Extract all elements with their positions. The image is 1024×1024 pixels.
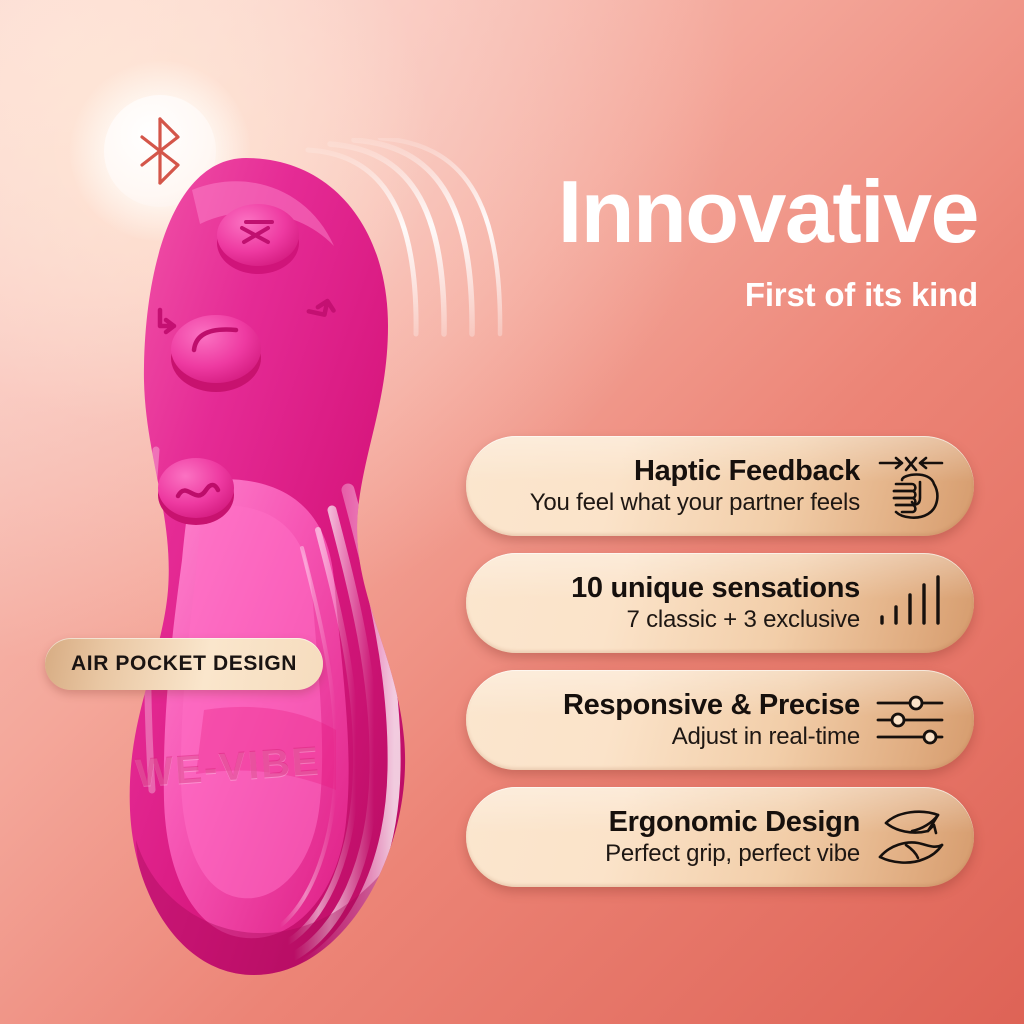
air-pocket-design-label: AIR POCKET DESIGN	[71, 652, 297, 676]
headline-block: Innovative First of its kind	[558, 168, 978, 314]
feature-list: Haptic Feedback You feel what your partn…	[466, 436, 974, 887]
feature-pill-ergonomic-design[interactable]: Ergonomic Design Perfect grip, perfect v…	[466, 787, 974, 887]
feature-pill-haptic-feedback[interactable]: Haptic Feedback You feel what your partn…	[466, 436, 974, 536]
air-pocket-design-badge: AIR POCKET DESIGN	[45, 638, 323, 690]
feature-subtitle: Perfect grip, perfect vibe	[605, 841, 860, 867]
mode-button-icon[interactable]	[171, 315, 261, 392]
feature-text-block: Ergonomic Design Perfect grip, perfect v…	[496, 807, 872, 868]
feature-title: Haptic Feedback	[634, 456, 860, 487]
feature-subtitle: Adjust in real-time	[672, 724, 860, 750]
feature-text-block: Responsive & Precise Adjust in real-time	[496, 690, 872, 751]
feature-title: Ergonomic Design	[609, 807, 860, 838]
page-title: Innovative	[558, 168, 978, 256]
feature-subtitle: 7 classic + 3 exclusive	[626, 607, 860, 633]
fist-haptic-icon	[872, 450, 950, 522]
feature-text-block: Haptic Feedback You feel what your partn…	[496, 456, 872, 517]
feature-text-block: 10 unique sensations 7 classic + 3 exclu…	[496, 573, 872, 634]
feature-pill-responsive-precise[interactable]: Responsive & Precise Adjust in real-time	[466, 670, 974, 770]
feature-title: 10 unique sensations	[571, 573, 860, 604]
feature-subtitle: You feel what your partner feels	[530, 490, 860, 516]
hands-holding-icon	[872, 801, 950, 873]
feature-title: Responsive & Precise	[563, 690, 860, 721]
product-device: WE-VIBE	[96, 150, 456, 990]
product-feature-graphic: WE-VIBE AIR POCKET DESIGN Innovative Fir…	[0, 0, 1024, 1024]
page-subtitle: First of its kind	[558, 276, 978, 314]
signal-bars-icon	[872, 567, 950, 639]
sliders-icon	[872, 684, 950, 756]
power-button-icon[interactable]	[217, 204, 299, 274]
wave-button-icon[interactable]	[158, 458, 234, 525]
feature-pill-unique-sensations[interactable]: 10 unique sensations 7 classic + 3 exclu…	[466, 553, 974, 653]
